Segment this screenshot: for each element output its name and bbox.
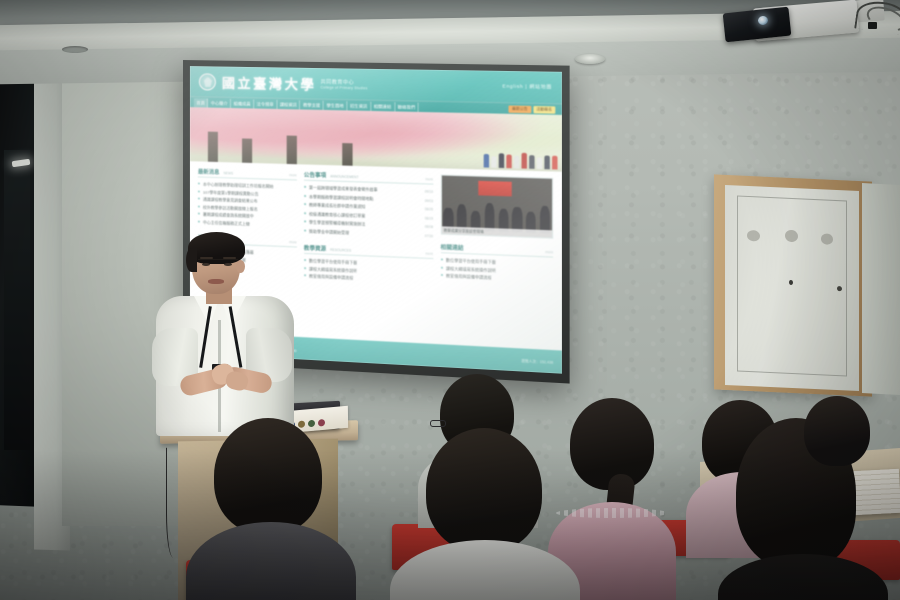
block-announce: 公告事項 ANNOUNCEMENT more 第一屆跨領域學習成果發表會徵件啟事… — [304, 171, 433, 241]
nav-item-3[interactable]: 法令規章 — [254, 99, 277, 109]
block-title-cn: 相關連結 — [441, 243, 464, 252]
audience-member-front-left — [196, 418, 342, 600]
block-more-link[interactable]: more — [425, 252, 433, 256]
audience-member-back-right — [796, 396, 896, 516]
door-detail — [785, 230, 798, 243]
content-column-center: 公告事項 ANNOUNCEMENT more 第一屆跨領域學習成果發表會徵件啟事… — [304, 171, 433, 344]
block-title-en: NEWS — [223, 171, 233, 175]
university-seal-icon — [199, 73, 216, 90]
nav-badge-1[interactable]: 活動報名 — [533, 105, 555, 113]
lecture-hall-photo: 國立臺灣大學 共同教育中心 College of Primary Studies… — [0, 0, 900, 600]
activity-photo[interactable]: 教學成果分享座談會現場 — [441, 175, 554, 239]
utility-links[interactable]: English | 網站地圖 — [502, 83, 552, 90]
head — [426, 428, 542, 552]
shoulders — [390, 540, 580, 600]
block-title-en: RESOURCES — [330, 248, 351, 253]
block-more-link[interactable]: more — [289, 173, 296, 177]
presenter-hair-side — [186, 248, 197, 272]
ceiling-projector — [718, 0, 894, 52]
door-detail — [747, 230, 760, 242]
nav-item-1[interactable]: 中心簡介 — [208, 98, 231, 108]
smoke-detector-icon — [575, 54, 605, 64]
glasses-icon — [430, 420, 446, 427]
nav-item-8[interactable]: 相關連結 — [371, 101, 395, 111]
wall-right-of-door — [862, 183, 900, 395]
shoulders — [718, 554, 888, 600]
nav-badge-0[interactable]: 最新公告 — [509, 105, 531, 113]
block-more-link[interactable]: more — [425, 177, 433, 181]
nav-item-7[interactable]: 招生資訊 — [347, 101, 371, 111]
door[interactable] — [725, 185, 859, 391]
banner-crowd — [484, 152, 558, 170]
nav-item-5[interactable]: 教學支援 — [300, 100, 323, 110]
nav-item-2[interactable]: 組織成員 — [231, 98, 254, 108]
presenter-mouth — [208, 279, 224, 284]
block-teaching: 教學資源 RESOURCES more 數位學習平台使用手冊下載 課程大綱填寫系… — [304, 244, 433, 286]
nav-item-6[interactable]: 學生園地 — [324, 100, 348, 110]
door-handle-icon[interactable] — [837, 286, 842, 291]
nav-item-4[interactable]: 課程資訊 — [277, 99, 300, 109]
blouse-trim — [556, 508, 668, 518]
block-title-en: ANNOUNCEMENT — [330, 174, 358, 179]
door-detail — [821, 233, 833, 245]
block-more-link[interactable]: more — [545, 250, 553, 255]
doorway-inner — [4, 150, 30, 450]
nav-badges: 最新公告 活動報名 — [509, 105, 558, 113]
presenter-glasses-icon — [198, 259, 238, 267]
door-lock-icon — [789, 280, 793, 285]
shoulders — [186, 522, 356, 600]
university-name: 國立臺灣大學 — [222, 72, 317, 93]
college-name-en: College of Primary Studies — [321, 85, 368, 90]
block-links: 相關連結 more 數位學習平台使用手冊下載 課程大綱填寫系統操作說明 教室借用… — [441, 243, 554, 285]
podium-cable — [166, 447, 184, 557]
presenter — [150, 232, 300, 432]
projector-port — [868, 22, 877, 29]
audience-member-center — [404, 428, 564, 600]
footer-visitor-count: 瀏覽人次：152,438 — [521, 357, 553, 364]
block-title: 最新消息 NEWS more — [198, 167, 297, 180]
head — [214, 418, 322, 534]
college-name-group: 共同教育中心 College of Primary Studies — [321, 78, 368, 90]
nav-item-9[interactable]: 聯絡我們 — [395, 102, 419, 112]
content-column-right: 教學成果分享座談會現場 相關連結 more 數位學習平台使用手冊下載 課程大綱填… — [441, 175, 554, 351]
block-title: 相關連結 more — [441, 243, 554, 258]
block-title-cn: 公告事項 — [304, 171, 326, 180]
block-title: 公告事項 ANNOUNCEMENT more — [304, 171, 433, 185]
block-news: 最新消息 NEWS more 本中心辦理教學助理培訓工作坊報名開始 107學年度… — [198, 167, 297, 229]
block-title-cn: 最新消息 — [198, 167, 220, 176]
ceiling-vent-icon — [62, 46, 88, 53]
block-title-cn: 教學資源 — [304, 244, 326, 253]
photo-red-banner — [479, 181, 512, 196]
head — [804, 396, 870, 466]
nav-item-0[interactable]: 首頁 — [194, 98, 208, 107]
